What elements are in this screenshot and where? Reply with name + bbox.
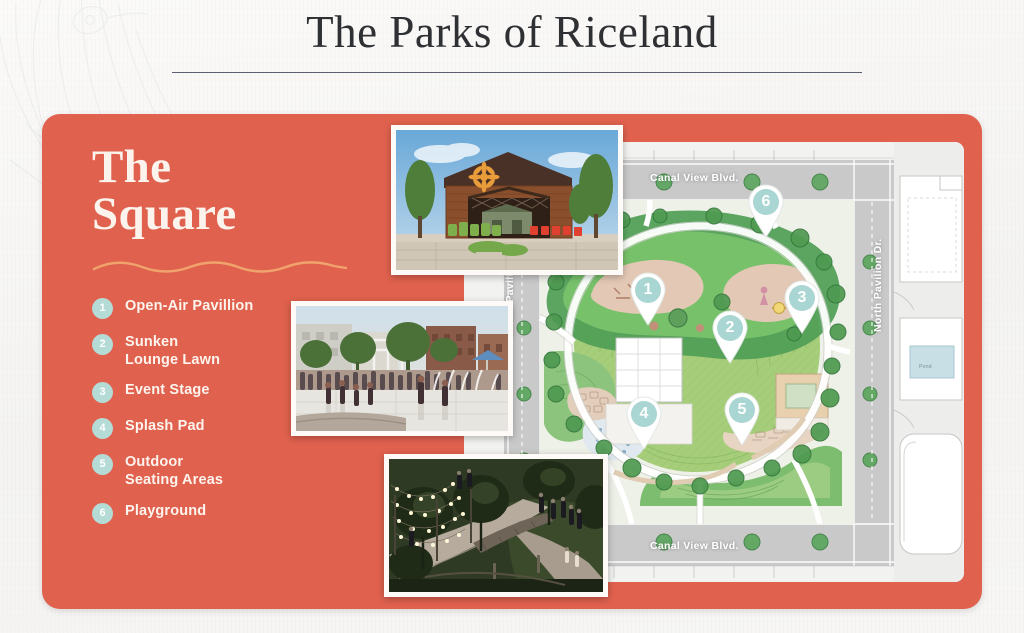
splash-pad-illustration bbox=[296, 306, 508, 431]
legend-label-4: Splash Pad bbox=[125, 417, 205, 435]
section-heading: The Square bbox=[92, 144, 392, 237]
section-heading-line-1: The bbox=[92, 144, 392, 191]
square-feature-panel: The Square 1 Open-Air Pavillion 2 Sunken… bbox=[42, 114, 982, 609]
legend-badge-1: 1 bbox=[92, 298, 113, 319]
section-heading-line-2: Square bbox=[92, 191, 392, 238]
legend-label-3: Event Stage bbox=[125, 381, 210, 399]
photo-open-air-pavilion[interactable] bbox=[391, 125, 623, 275]
legend-badge-2: 2 bbox=[92, 334, 113, 355]
legend-badge-5: 5 bbox=[92, 454, 113, 475]
title-divider-rule bbox=[172, 72, 862, 73]
legend-label-1: Open-Air Pavillion bbox=[125, 297, 253, 315]
legend-badge-4: 4 bbox=[92, 418, 113, 439]
legend-label-5: Outdoor Seating Areas bbox=[125, 453, 223, 489]
page-header: The Parks of Riceland bbox=[0, 0, 1024, 110]
pond-label: Pond bbox=[919, 364, 932, 370]
evening-walkway-illustration bbox=[389, 459, 603, 592]
pavilion-illustration bbox=[396, 130, 618, 270]
legend-item-6[interactable]: 6 Playground bbox=[92, 502, 392, 524]
legend-badge-6: 6 bbox=[92, 503, 113, 524]
photo-outdoor-seating-evening[interactable] bbox=[384, 454, 608, 597]
page-title: The Parks of Riceland bbox=[0, 0, 1024, 55]
wavy-divider-icon bbox=[92, 259, 348, 275]
photo-evening-image bbox=[389, 459, 603, 592]
photo-splash-pad[interactable] bbox=[291, 301, 513, 436]
legend-badge-3: 3 bbox=[92, 382, 113, 403]
legend-label-6: Playground bbox=[125, 502, 206, 520]
legend-label-2: Sunken Lounge Lawn bbox=[125, 333, 220, 369]
photo-pavilion-image bbox=[396, 130, 618, 270]
legend-item-5[interactable]: 5 Outdoor Seating Areas bbox=[92, 453, 392, 489]
photo-splash-image bbox=[296, 306, 508, 431]
